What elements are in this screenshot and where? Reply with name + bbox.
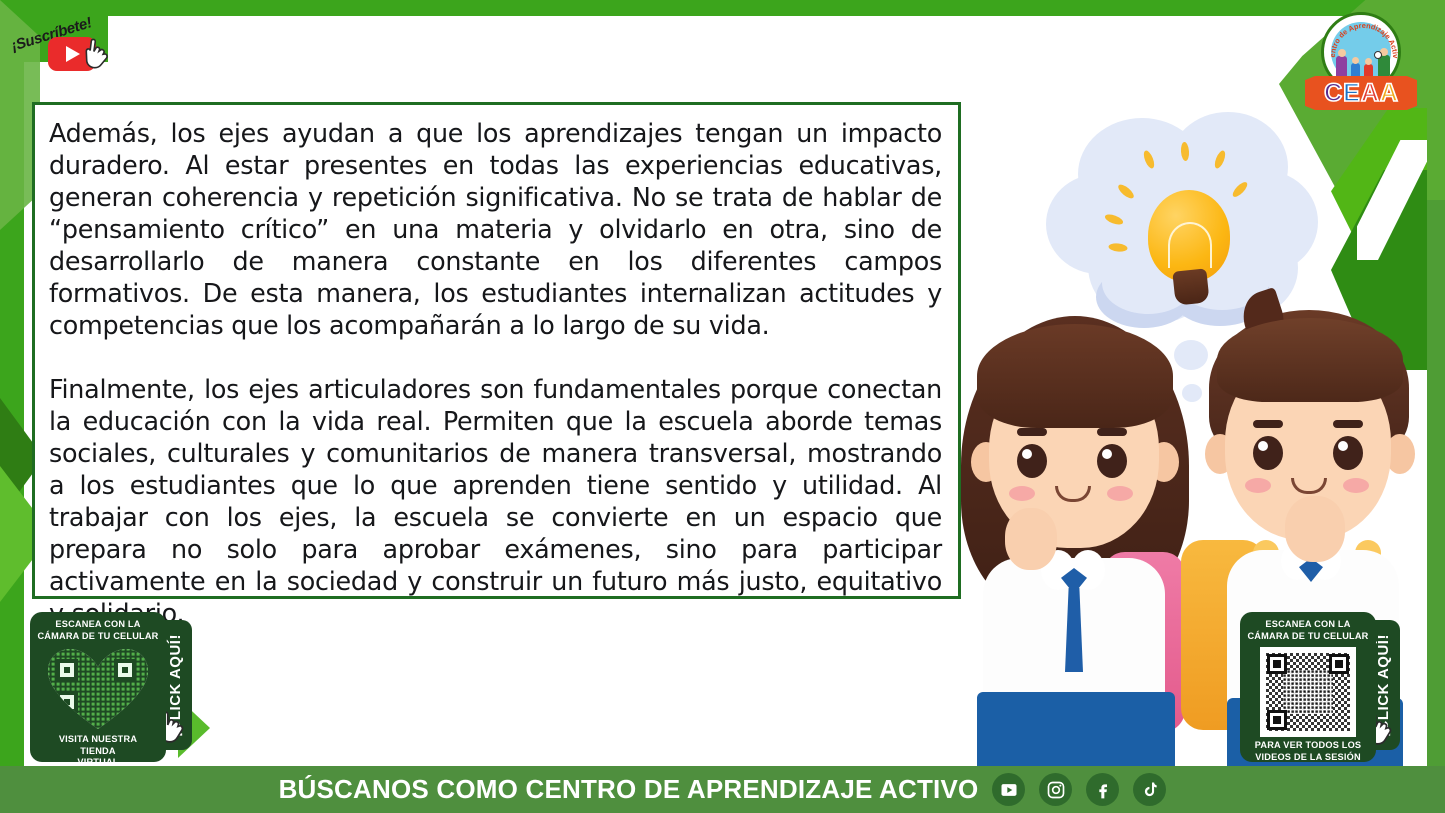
logo-letter-0: C (1324, 81, 1342, 106)
square-qr-code[interactable] (1260, 647, 1356, 737)
ceaa-logo: Centro de Aprendizaje Activo C (1305, 12, 1417, 110)
footer-text: BÚSCANOS COMO CENTRO DE APRENDIZAJE ACTI… (279, 774, 979, 805)
girl-eye-right (1097, 444, 1127, 478)
qr-badge-store[interactable]: ESCANEA CON LA CÁMARA DE TU CELULAR (30, 612, 166, 762)
qr-store-foot-1: VISITA NUESTRA (30, 734, 166, 746)
qr-videos-foot-1: PARA VER TODOS LOS (1240, 740, 1376, 752)
qr-videos-title-2: CÁMARA DE TU CELULAR (1240, 631, 1376, 643)
tiktok-icon[interactable] (1133, 773, 1166, 806)
student-girl (955, 300, 1205, 766)
facebook-icon[interactable] (1086, 773, 1119, 806)
boy-eye-left (1253, 436, 1283, 470)
subscribe-badge[interactable]: ¡Suscríbete! (8, 4, 118, 76)
girl-bangs (977, 324, 1173, 428)
logo-letter-1: E (1343, 81, 1360, 106)
instagram-icon[interactable] (1039, 773, 1072, 806)
content-textbox: Además, los ejes ayudan a que los aprend… (32, 102, 961, 599)
hand-cursor-icon (79, 36, 114, 80)
top-green-band (0, 0, 1445, 16)
heart-qr-code[interactable] (46, 647, 150, 731)
qr-videos-title-1: ESCANEA CON LA (1240, 612, 1376, 631)
youtube-icon[interactable] (992, 773, 1025, 806)
lightbulb-filament (1168, 222, 1212, 268)
boy-hand (1285, 496, 1345, 562)
paragraph-1: Además, los ejes ayudan a que los aprend… (49, 117, 942, 341)
logo-letter-2: A (1361, 81, 1379, 106)
qr-store-foot-2: TIENDA (30, 746, 166, 758)
logo-family-figures (1336, 50, 1392, 76)
logo-letter-3: A (1380, 81, 1398, 106)
slide-canvas: ¡Suscríbete! Centro de Aprendizaje Activ… (0, 0, 1445, 813)
girl-hand (1005, 508, 1057, 570)
girl-eye-left (1017, 444, 1047, 478)
boy-eye-right (1333, 436, 1363, 470)
girl-skirt (977, 692, 1175, 766)
qr-store-title-2: CÁMARA DE TU CELULAR (30, 631, 166, 643)
qr-store-title-1: ESCANEA CON LA (30, 612, 166, 631)
logo-name-banner: C E A A (1305, 76, 1417, 110)
paragraph-2: Finalmente, los ejes articuladores son f… (49, 373, 942, 629)
qr-videos-foot-2: VIDEOS DE LA SESIÓN (1240, 752, 1376, 768)
qr-badge-videos[interactable]: ESCANEA CON LA CÁMARA DE TU CELULAR (1240, 612, 1376, 762)
footer-bar: BÚSCANOS COMO CENTRO DE APRENDIZAJE ACTI… (0, 766, 1445, 813)
